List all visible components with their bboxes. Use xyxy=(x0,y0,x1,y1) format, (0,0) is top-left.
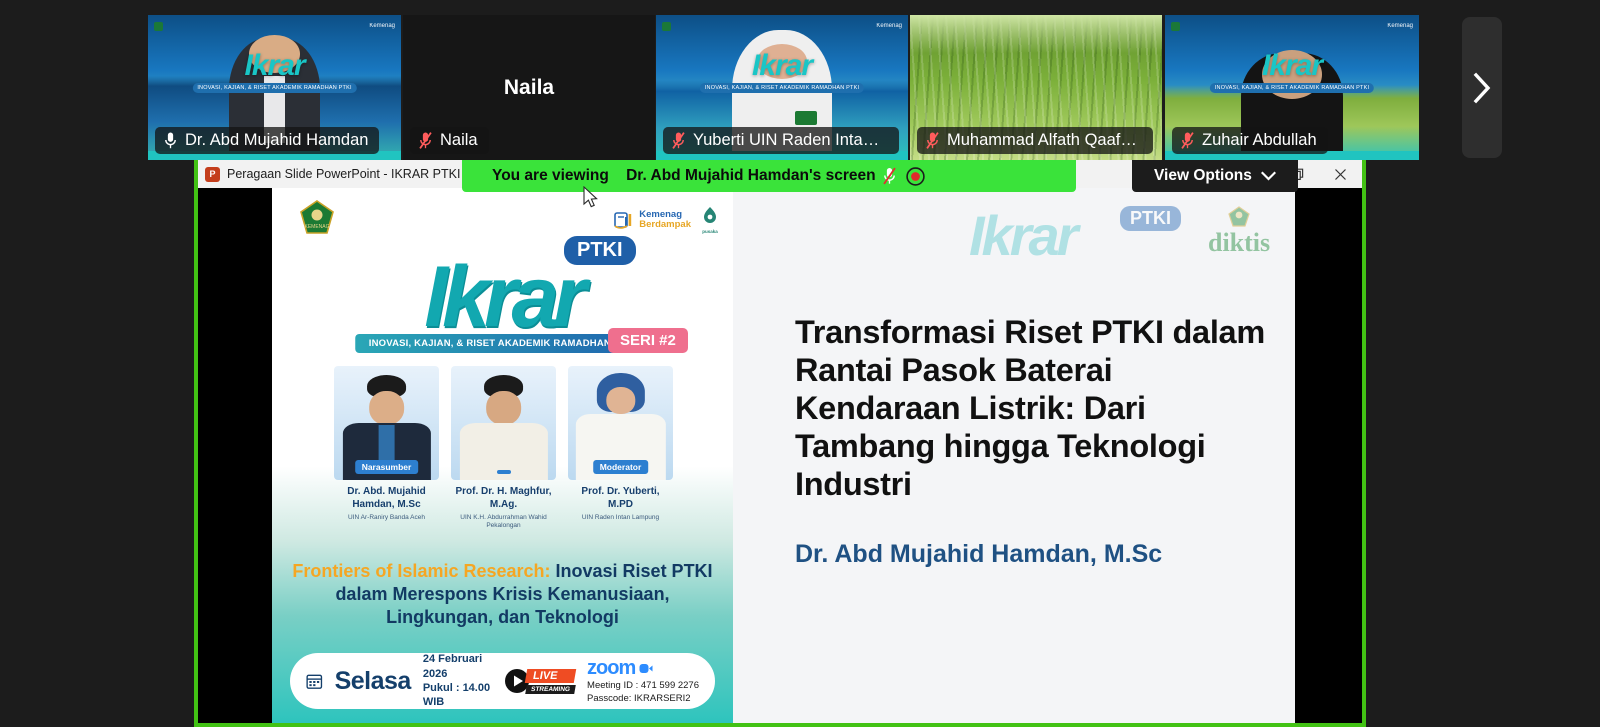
pusaka-icon xyxy=(701,206,719,224)
participant-name-badge-2: Yuberti UIN Raden Intan ... xyxy=(663,127,899,154)
diktis-wordmark: diktis xyxy=(1208,228,1270,258)
powerpoint-icon: P xyxy=(205,167,220,182)
poster-ikrar-logo: Ikrar xyxy=(424,248,581,347)
tile-ikrar-logo-0: Ikrar xyxy=(244,49,304,83)
participant-name-badge-3: Muhammad Alfath Qaaf_... xyxy=(917,127,1153,154)
slide-author-text: Dr. Abd Mujahid Hamdan, M.Sc xyxy=(795,540,1265,569)
speaker-role-2: Moderator xyxy=(593,460,649,474)
poster-theme-highlight: Frontiers of Islamic Research: xyxy=(292,561,550,581)
tile-partner-logos-2: Kemenag xyxy=(876,23,902,29)
mic-muted-icon xyxy=(418,131,433,150)
poster-speaker-1: Prof. Dr. H. Maghfur, M.Ag. UIN K.H. Abd… xyxy=(451,366,556,530)
view-options-label: View Options xyxy=(1154,167,1252,185)
poster-live-badge: LIVE STREAMING xyxy=(504,668,575,694)
close-button[interactable] xyxy=(1319,160,1362,188)
participant-name-badge-0: Dr. Abd Mujahid Hamdan xyxy=(155,127,379,154)
view-options-button[interactable]: View Options xyxy=(1132,160,1298,192)
poster-live-label: LIVE xyxy=(525,669,576,683)
slide-watermark-ikrar: Ikrar xyxy=(969,203,1075,268)
tile-ikrar-logo-2: Ikrar xyxy=(752,49,812,83)
slide-watermark-diktis: diktis xyxy=(1208,206,1270,258)
chevron-right-icon xyxy=(1471,71,1493,105)
poster-seri-badge: SERI #2 xyxy=(608,328,688,353)
participant-tile-0[interactable]: Kemenag Ikrar INOVASI, KAJIAN, & RISET A… xyxy=(148,15,401,160)
speaker-affiliation-0: UIN Ar-Raniry Banda Aceh xyxy=(334,514,439,522)
speaker-name-2: Prof. Dr. Yuberti, M.PD xyxy=(568,486,673,511)
poster-passcode: Passcode: IKRARSERI2 xyxy=(587,693,699,706)
poster-theme: Frontiers of Islamic Research: Inovasi R… xyxy=(286,560,719,629)
poster-time: Pukul : 14.00 WIB xyxy=(423,681,492,710)
tile-kemenag-text-0: Kemenag xyxy=(369,23,395,29)
poster-datetime: 24 Februari 2026 Pukul : 14.00 WIB xyxy=(423,652,492,709)
slide-poster: KEMENAG Kemenag Berdampak xyxy=(272,188,733,723)
svg-text:KEMENAG: KEMENAG xyxy=(304,224,329,230)
filmstrip-next-button[interactable] xyxy=(1462,17,1502,158)
speaker-affiliation-1: UIN K.H. Abdurrahman Wahid Pekalongan xyxy=(451,514,556,530)
tile-partner-logos-4: Kemenag xyxy=(1387,23,1413,29)
pusaka-label: pusaka xyxy=(701,229,719,234)
screen-share-banner-text: You are viewing Dr. Abd Mujahid Hamdan's… xyxy=(462,167,882,185)
kemenag-logo-icon: KEMENAG xyxy=(300,200,334,236)
poster-tagline: INOVASI, KAJIAN, & RISET AKADEMIK RAMADH… xyxy=(355,334,651,353)
slide-title-text: Transformasi Riset PTKI dalam Rantai Pas… xyxy=(795,313,1265,503)
zoom-camera-icon xyxy=(639,663,653,674)
speaker-role-0: Narasumber xyxy=(355,460,419,474)
tile-tagline-2: INOVASI, KAJIAN, & RISET AKADEMIK RAMADH… xyxy=(700,83,864,93)
poster-zoom-info: zoom Meeting ID : 471 599 2276 Passcode:… xyxy=(587,657,699,706)
participant-tile-2[interactable]: Kemenag Ikrar INOVASI, KAJIAN, & RISET A… xyxy=(656,15,908,160)
poster-ptki-badge: PTKI xyxy=(564,236,636,265)
diktis-crest-icon xyxy=(1228,206,1250,228)
zoom-wordmark: zoom xyxy=(587,657,635,680)
participant-tile-3[interactable]: Muhammad Alfath Qaaf_... xyxy=(910,15,1162,160)
powerpoint-slide: KEMENAG Kemenag Berdampak xyxy=(272,188,1295,723)
poster-day: Selasa xyxy=(335,667,411,696)
tile-tagline-4: INOVASI, KAJIAN, & RISET AKADEMIK RAMADH… xyxy=(1210,83,1374,93)
tile-kemenag-text-2: Kemenag xyxy=(876,23,902,29)
poster-speaker-0: Narasumber Dr. Abd. Mujahid Hamdan, M.Sc… xyxy=(334,366,439,530)
screen-share-banner: You are viewing Dr. Abd Mujahid Hamdan's… xyxy=(462,160,1076,192)
participant-name-badge-4: Zuhair Abdullah xyxy=(1172,127,1328,154)
chevron-down-icon xyxy=(1261,171,1276,181)
mic-muted-icon xyxy=(925,131,940,150)
poster-date: 24 Februari 2026 xyxy=(423,652,492,681)
calendar-icon xyxy=(306,670,323,692)
banner-prefix: You are viewing xyxy=(492,167,609,184)
recording-icon[interactable] xyxy=(906,167,925,186)
kemenag-berdampak-icon xyxy=(613,210,635,230)
speaker-photo-0: Narasumber xyxy=(334,366,439,480)
participant-name-text-3: Muhammad Alfath Qaaf_... xyxy=(947,131,1142,150)
speaker-name-1: Prof. Dr. H. Maghfur, M.Ag. xyxy=(451,486,556,511)
participant-name-badge-1: Naila xyxy=(410,127,489,154)
kemenag-berdampak-text: Kemenag Berdampak xyxy=(639,210,691,230)
tile-tagline-0: INOVASI, KAJIAN, & RISET AKADEMIK RAMADH… xyxy=(192,83,356,93)
tile-kemenag-logo-2 xyxy=(662,22,671,31)
poster-info-bar: Selasa 24 Februari 2026 Pukul : 14.00 WI… xyxy=(290,653,715,709)
tile-ikrar-logo-4: Ikrar xyxy=(1262,49,1322,83)
participant-name-text-0: Dr. Abd Mujahid Hamdan xyxy=(185,131,368,150)
speaker-name-0: Dr. Abd. Mujahid Hamdan, M.Sc xyxy=(334,486,439,511)
slide-watermark-ptki: PTKI xyxy=(1120,206,1181,231)
speaker-role-1 xyxy=(497,470,511,474)
participant-tile-4[interactable]: Kemenag Ikrar INOVASI, KAJIAN, & RISET A… xyxy=(1165,15,1419,160)
close-icon xyxy=(1334,168,1347,181)
speaker-photo-1 xyxy=(451,366,556,480)
mic-muted-icon xyxy=(671,131,686,150)
poster-partner-logos: Kemenag Berdampak pusaka xyxy=(613,206,719,234)
poster-streaming-label: STREAMING xyxy=(525,685,576,694)
mic-muted-icon xyxy=(1180,131,1195,150)
poster-meeting-id: Meeting ID : 471 599 2276 xyxy=(587,680,699,693)
zoom-meeting-window: Kemenag Ikrar INOVASI, KAJIAN, & RISET A… xyxy=(0,0,1600,727)
banner-sharer-name: Dr. Abd Mujahid Hamdan's screen xyxy=(626,167,875,184)
mic-muted-icon[interactable] xyxy=(882,166,897,186)
speaker-affiliation-2: UIN Raden Intan Lampung xyxy=(568,514,673,522)
shared-screen-frame: P Peragaan Slide PowerPoint - IKRAR PTKI… xyxy=(194,160,1366,727)
banner-status-icons xyxy=(882,166,945,186)
mic-on-icon xyxy=(163,131,178,150)
participant-name-text-4: Zuhair Abdullah xyxy=(1202,131,1317,150)
pusaka-logo: pusaka xyxy=(701,206,719,234)
mouse-pointer-icon xyxy=(583,186,599,209)
poster-speakers: Narasumber Dr. Abd. Mujahid Hamdan, M.Sc… xyxy=(334,366,674,530)
participant-tile-1[interactable]: Naila Naila xyxy=(403,15,655,160)
speaker-photo-2: Moderator xyxy=(568,366,673,480)
participant-name-text-2: Yuberti UIN Raden Intan ... xyxy=(693,131,888,150)
tile-kemenag-text-4: Kemenag xyxy=(1387,23,1413,29)
tile-kemenag-logo-4 xyxy=(1171,22,1180,31)
poster-speaker-2: Moderator Prof. Dr. Yuberti, M.PD UIN Ra… xyxy=(568,366,673,530)
participant-name-text-1: Naila xyxy=(440,131,478,150)
participant-filmstrip: Kemenag Ikrar INOVASI, KAJIAN, & RISET A… xyxy=(0,0,1600,176)
participant-center-name-1: Naila xyxy=(403,76,655,100)
tile-kemenag-logo-0 xyxy=(154,22,163,31)
tile-partner-logos-0: Kemenag xyxy=(369,23,395,29)
kemenag-line2: Berdampak xyxy=(639,220,691,230)
